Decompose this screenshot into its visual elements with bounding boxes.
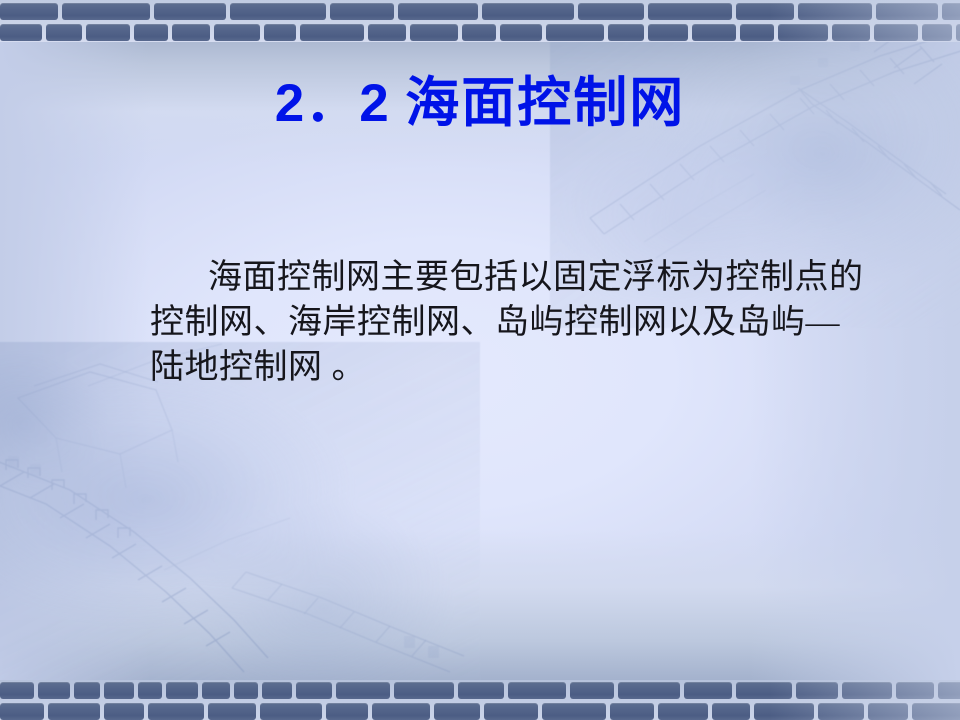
brick-row [0, 24, 960, 42]
watermark-haze-overlay [0, 342, 480, 702]
brick-row [0, 3, 960, 21]
brick-row [0, 703, 960, 720]
slide-body-paragraph: 海面控制网主要包括以固定浮标为控制点的控制网、海岸控制网、岛屿控制网以及岛屿—陆… [150, 255, 870, 390]
bottom-brick-border [0, 680, 960, 720]
great-wall-watermark-bottom-left [0, 342, 480, 702]
presentation-slide: 2．2 海面控制网 海面控制网主要包括以固定浮标为控制点的控制网、海岸控制网、岛… [0, 0, 960, 720]
slide-title: 2．2 海面控制网 [0, 58, 960, 137]
brick-row [0, 682, 960, 700]
top-brick-border [0, 0, 960, 42]
slide-title-heading: 海面控制网 [405, 73, 685, 133]
slide-title-number: 2．2 [275, 74, 390, 133]
